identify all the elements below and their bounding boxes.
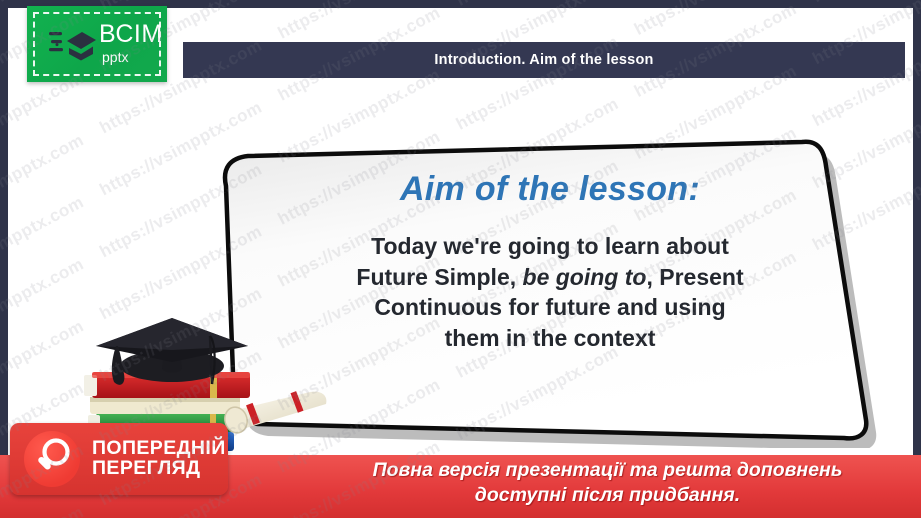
page-title: Introduction. Aim of the lesson [434, 52, 653, 68]
graduation-cap-speed-icon [49, 26, 97, 64]
site-logo[interactable]: ВСІМ pptx [27, 6, 167, 82]
purchase-notice-text: Повна версія презентації та решта доповн… [300, 458, 915, 508]
magnifier-icon [24, 431, 80, 487]
logo-brand: ВСІМ [99, 22, 163, 47]
logo-text-block: ВСІМ pptx [99, 22, 163, 64]
preview-badge-line-2: ПЕРЕГЛЯД [92, 459, 226, 479]
book-cream [90, 397, 240, 414]
presentation-slide: Aim of the lesson: Today we're going to … [0, 0, 921, 518]
preview-badge-text: ПОПЕРЕДНІЙ ПЕРЕГЛЯД [92, 439, 226, 479]
purchase-notice-line-2: доступні після придбання. [300, 483, 915, 508]
purchase-notice-line-1: Повна версія презентації та решта доповн… [300, 458, 915, 483]
slide-header-bar: Introduction. Aim of the lesson [183, 42, 905, 78]
preview-badge[interactable]: ПОПЕРЕДНІЙ ПЕРЕГЛЯД [10, 423, 228, 495]
logo-suffix: pptx [102, 50, 163, 64]
